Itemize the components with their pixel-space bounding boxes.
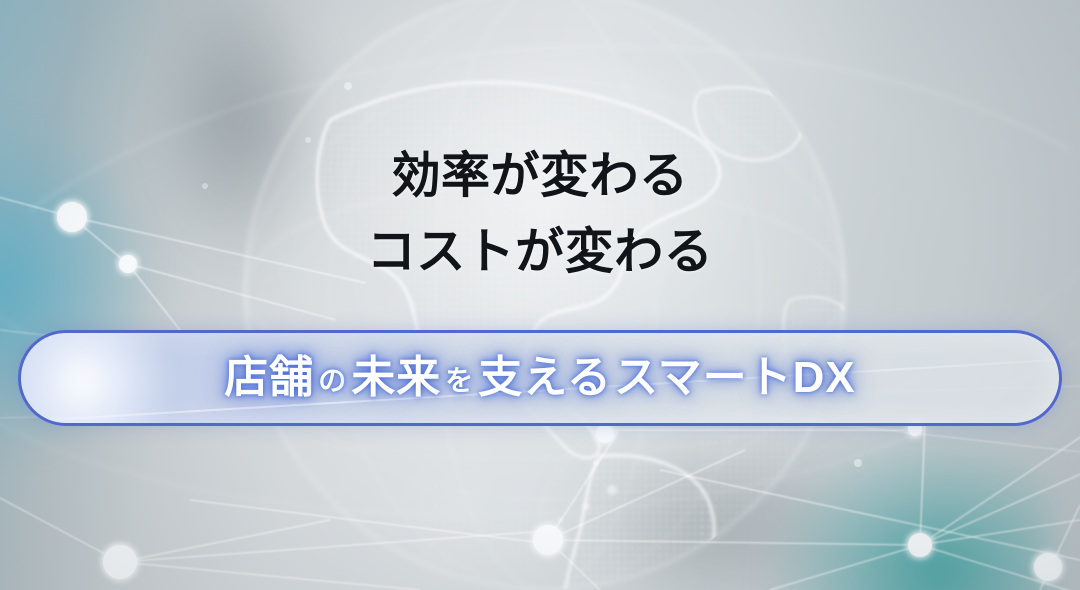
- tagline-pill: 店舗の未来を支えるスマートDX: [18, 330, 1062, 426]
- headline-line-1: 効率が変わる: [0, 138, 1080, 214]
- tagline-seg-0: 店舗: [224, 353, 314, 402]
- pill-highlight-glow: [18, 330, 181, 426]
- tagline-seg-3: を: [445, 365, 474, 396]
- background-vignette: [0, 0, 1080, 590]
- tagline-seg-4: 支える: [478, 353, 612, 402]
- tagline-seg-2: 未来: [351, 353, 441, 402]
- tagline-seg-1: の: [318, 365, 347, 396]
- hero-banner: 効率が変わる コストが変わる 店舗の未来を支えるスマートDX: [0, 0, 1080, 590]
- tagline-seg-5: スマートDX: [614, 353, 856, 402]
- headline-line-2: コストが変わる: [0, 214, 1080, 290]
- headline-block: 効率が変わる コストが変わる: [0, 138, 1080, 290]
- tagline-text: 店舗の未来を支えるスマートDX: [223, 356, 857, 400]
